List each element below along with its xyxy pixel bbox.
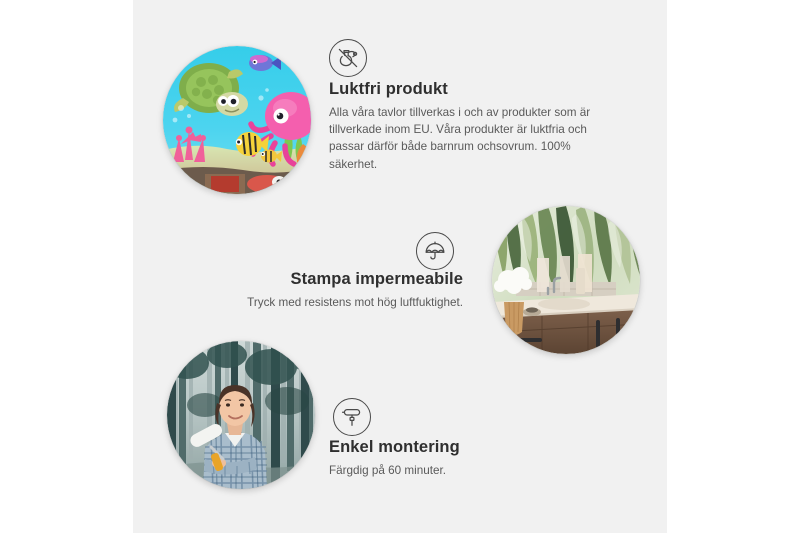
forest-installer-photo	[167, 341, 315, 489]
infographic-page: Luktfri produkt Alla våra tavlor tillver…	[0, 0, 800, 533]
content-panel: Luktfri produkt Alla våra tavlor tillver…	[133, 0, 667, 533]
feature-title: Stampa impermeabile	[171, 270, 463, 289]
bathroom-vanity-photo	[492, 206, 640, 354]
paint-roller-icon	[333, 398, 371, 436]
feature-text-mounting: Enkel montering Färgdig på 60 minuter.	[329, 438, 619, 479]
feature-title: Enkel montering	[329, 438, 619, 457]
aquarium-cartoon-photo	[163, 46, 311, 194]
no-fragrance-icon	[329, 39, 367, 77]
feature-body: Alla våra tavlor tillverkas i och av pro…	[329, 104, 619, 173]
feature-body: Färgdig på 60 minuter.	[329, 462, 619, 479]
umbrella-icon	[416, 232, 454, 270]
feature-title: Luktfri produkt	[329, 80, 619, 99]
feature-text-waterproof: Stampa impermeabile Tryck med resistens …	[171, 270, 463, 311]
feature-body: Tryck med resistens mot hög luftfuktighe…	[171, 294, 463, 311]
feature-text-odourless: Luktfri produkt Alla våra tavlor tillver…	[329, 80, 619, 173]
